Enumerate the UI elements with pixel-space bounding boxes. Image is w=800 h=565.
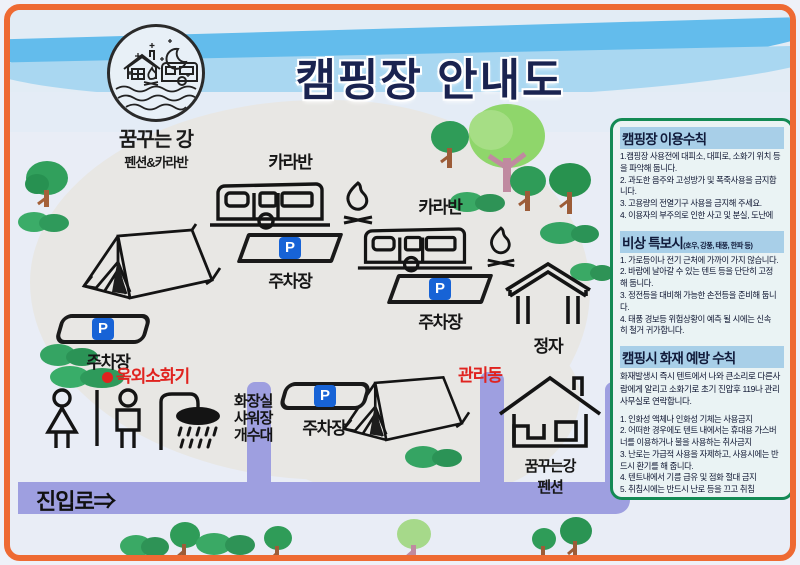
rule-line: 2. 바람에 날아갈 수 있는 텐트 등을 단단히 고정 (620, 266, 784, 278)
rules-section-3: 캠핑시 화재 예방 수칙 화재발생시 즉시 텐트에서 나와 큰소리로 다른사람에… (620, 346, 784, 496)
rule-line: 을 파악해 둡니다. (620, 163, 784, 175)
bush-icon (120, 530, 170, 558)
tree-icon (558, 516, 594, 561)
tree-icon (24, 158, 70, 210)
rules-section-3-intro: 화재발생시 즉시 텐트에서 나와 큰소리로 다른사람에게 알리고 소화기로 초기… (620, 370, 784, 407)
rules-section-2-heading: 비상 특보시(호우, 강풍, 태풍, 한파 등) (620, 231, 784, 253)
tree-icon (530, 526, 558, 561)
rules-section-2: 비상 특보시(호우, 강풍, 태풍, 한파 등) 1. 가로등이나 전기 근처에… (620, 231, 784, 337)
parking-icon: P (279, 237, 301, 259)
facility-labels: 화장실 샤워장 개수대 (234, 394, 272, 444)
rule-line: 4. 태풍 경보등 위험상황이 예측 될 시에는 신속 (620, 314, 784, 326)
facility-line-2: 샤워장 (234, 411, 272, 428)
rule-line: 5. 취침시에는 반드시 난로 등을 끄고 취침 (620, 484, 784, 496)
gazebo-label: 정자 (493, 332, 603, 357)
rules-section-3-body: 1. 인화성 액체나 인화성 기체는 사용금지 2. 어떠한 경우에도 텐트 내… (620, 414, 784, 496)
caravan-icon (356, 222, 474, 274)
office-red-label: 관리동 (458, 361, 502, 386)
rule-line: 3. 난로는 가급적 사용을 자제하고, 사용시에는 반 (620, 449, 784, 461)
page-title: 캠핑장 안내도 (272, 44, 588, 108)
parking-label-4: 주차장 (278, 414, 370, 439)
rules-section-1-body: 1.캠핑장 사용전에 대피소, 대피로, 소화기 위치 등 을 파악해 둡니다.… (620, 151, 784, 222)
rule-line: 히 철거 귀가합니다. (620, 325, 784, 337)
rule-line: 3. 고용량의 전열기구 사용을 금지해 주세요. (620, 198, 784, 210)
office-name-line2: 펜션 (480, 476, 620, 497)
rules-section-2-body: 1. 가로등이나 전기 근처에 가까이 가지 않습니다. 2. 바람에 날아갈 … (620, 255, 784, 337)
rules-section-2-heading-note: (호우, 강풍, 태풍, 한파 등) (683, 241, 752, 250)
rules-section-3-heading: 캠핑시 화재 예방 수칙 (620, 346, 784, 368)
rule-line: 1. 인화성 액체나 인화성 기체는 사용금지 (620, 414, 784, 426)
logo-circle-illustration (107, 24, 205, 122)
bush-icon (196, 528, 256, 556)
rule-line: 해 둡니다. (620, 278, 784, 290)
women-restroom-icon (38, 388, 90, 450)
parking-icon: P (92, 318, 114, 340)
tree-icon (262, 524, 294, 561)
rule-line: 4. 이용자의 부주의로 인한 사고 및 분실, 도난에 (620, 210, 784, 222)
parking-plot-4[interactable]: P (278, 382, 372, 410)
men-restroom-icon (104, 388, 154, 450)
entrance-road-label: 진입로⇒ (36, 484, 115, 516)
extinguisher-label: 옥외소화기 (116, 367, 189, 386)
rule-line: 니다. (620, 186, 784, 198)
rule-line: 2. 어떠한 경우에도 텐트 내에서는 휴대용 가스버 (620, 425, 784, 437)
parking-plot-2[interactable]: P (387, 274, 494, 304)
caravan-icon (162, 63, 197, 85)
rules-section-1: 캠핑장 이용수칙 1.캠핑장 사용전에 대피소, 대피로, 소화기 위치 등 을… (620, 127, 784, 222)
tree-icon (546, 160, 594, 218)
rule-line: 4. 텐트내에서 기름 급유 및 점화 절대 금지 (620, 472, 784, 484)
tent-node-1: P 주차장 (52, 222, 222, 373)
sign-frame: 진입로⇒ (4, 4, 796, 561)
tree-icon (394, 518, 434, 561)
house-icon (494, 374, 606, 454)
rules-section-2-heading-text: 비상 특보시 (622, 236, 683, 251)
gazebo-node: 정자 (493, 258, 603, 357)
logo-scene-icon (110, 27, 205, 122)
caravan-label-2: 카라반 (350, 193, 530, 218)
divider-icon (90, 388, 104, 450)
rule-line: 2. 과도한 음주와 고성방가 및 폭죽사용을 금지합 (620, 175, 784, 187)
water-waves-icon (116, 87, 196, 110)
rules-panel: 캠핑장 이용수칙 1.캠핑장 사용전에 대피소, 대피로, 소화기 위치 등 을… (610, 118, 794, 500)
fire-extinguisher-dot-icon (102, 372, 113, 383)
facility-line-3: 개수대 (234, 428, 272, 445)
rules-section-1-heading: 캠핑장 이용수칙 (620, 127, 784, 149)
caravan-icon (208, 177, 332, 231)
bush-icon (540, 218, 600, 244)
shower-icon (156, 388, 230, 452)
parking-icon: P (314, 385, 336, 407)
rule-line: 1. 가로등이나 전기 근처에 가까이 가지 않습니다. (620, 255, 784, 267)
rule-line: 1.캠핑장 사용전에 대피소, 대피로, 소화기 위치 등 (620, 151, 784, 163)
moon-icon (166, 49, 186, 69)
caravan-label-1: 카라반 (200, 148, 380, 173)
parking-icon: P (429, 278, 451, 300)
tent-node-2: P 주차장 (282, 370, 472, 462)
campground-map-sign: 진입로⇒ (0, 0, 800, 565)
facility-line-1: 화장실 (234, 394, 272, 411)
gazebo-icon (500, 258, 596, 330)
rule-line: 3. 정전등을 대비해 가능한 손전등을 준비해 둡니다. (620, 290, 784, 314)
office-node: 관리동 꿈꾸는강 펜션 (480, 358, 620, 497)
rule-line: 너를 이용하거나 불을 사용하는 취사금지 (620, 437, 784, 449)
parking-plot-1[interactable]: P (237, 233, 344, 263)
office-name-line1: 꿈꾸는강 (480, 455, 620, 476)
facilities-node: 화장실 샤워장 개수대 (38, 388, 272, 452)
parking-plot-3[interactable]: P (54, 314, 153, 344)
extinguisher-marker: 옥외소화기 (102, 362, 189, 387)
rule-line: 드시 환기를 해 줍니다. (620, 461, 784, 473)
